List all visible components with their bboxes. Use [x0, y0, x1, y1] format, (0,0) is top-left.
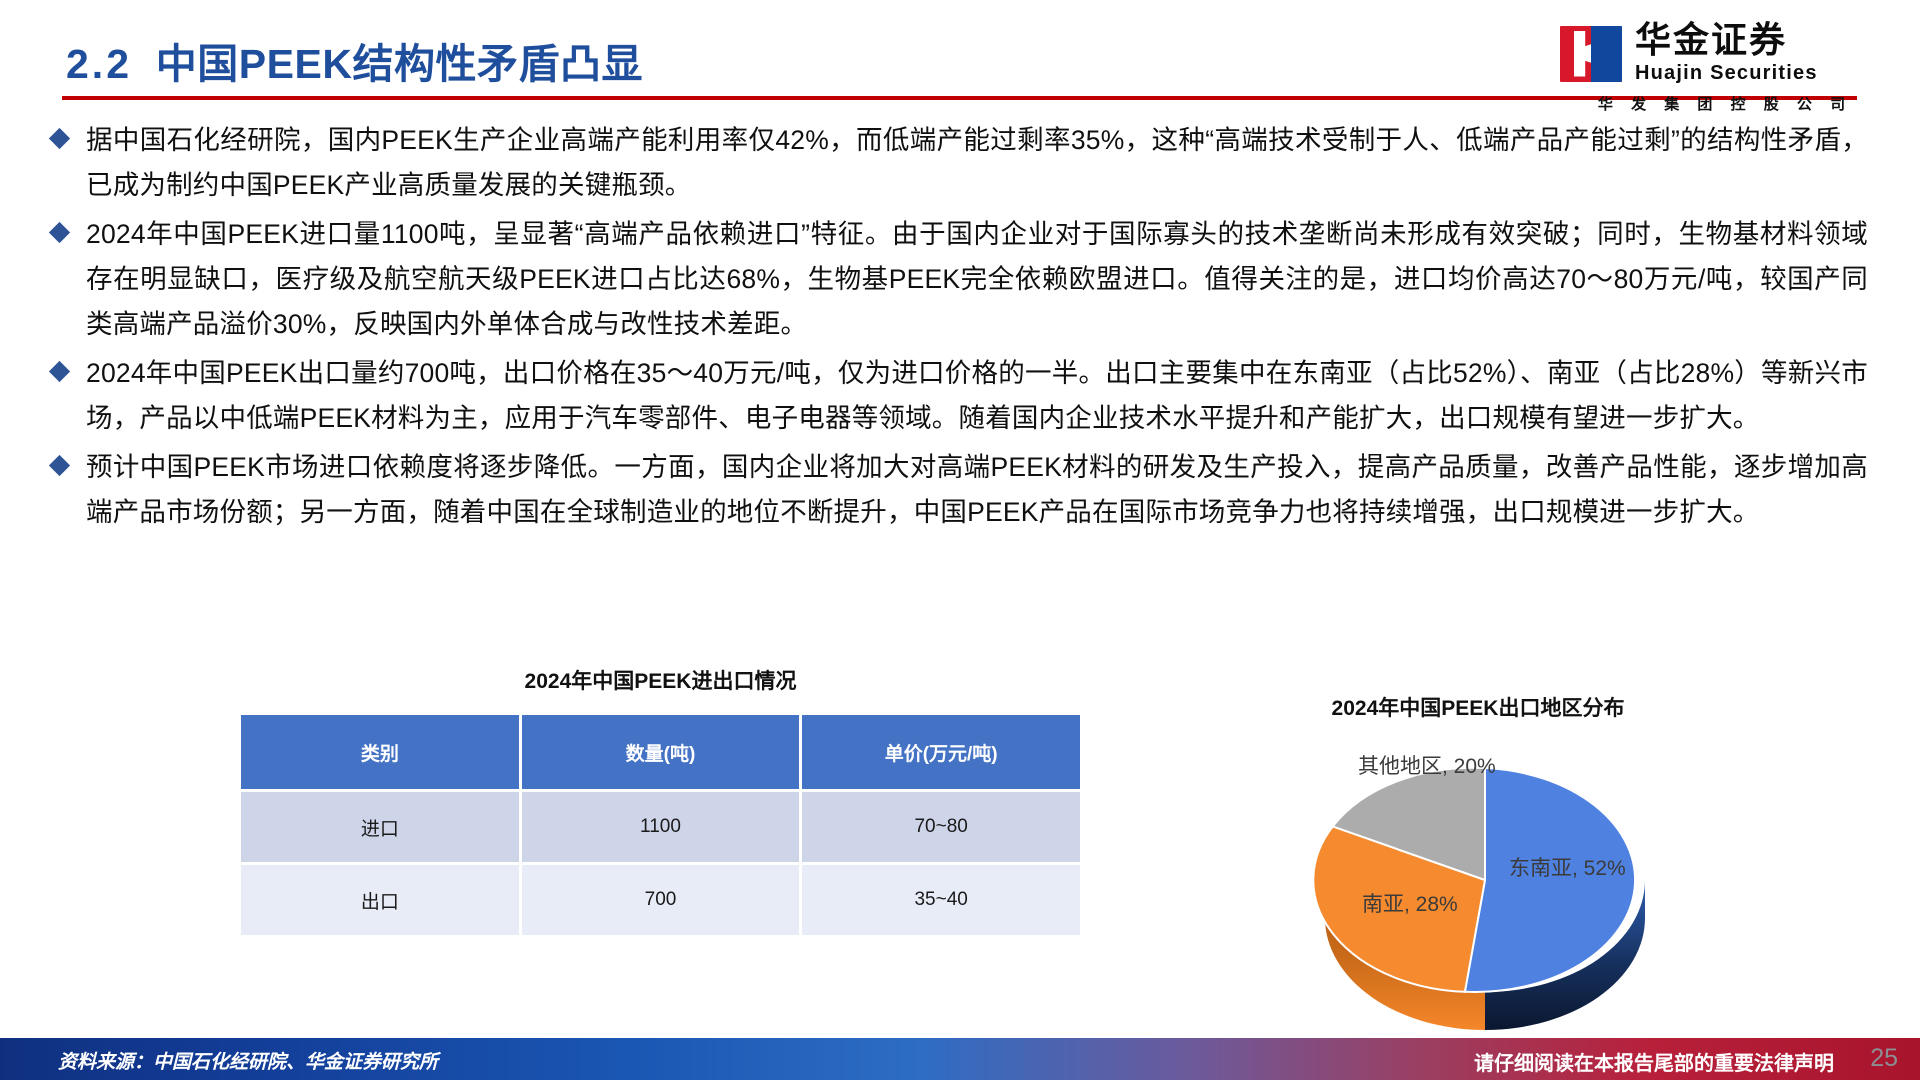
page-title-text: 中国PEEK结构性矛盾凸显: [156, 41, 643, 87]
company-logo: 华金证券 Huajin Securities 华 发 集 团 控 股 公 司: [1560, 22, 1890, 114]
table-col-header-category: 类别: [241, 715, 519, 789]
table-row: 出口 700 35~40: [241, 865, 1080, 935]
table-cell-quantity: 1100: [522, 792, 800, 862]
bullet-text-1: 据中国石化经研院，国内PEEK生产企业高端产能利用率仅42%，而低端产能过剩率3…: [86, 118, 1868, 208]
bullet-text-3: 2024年中国PEEK出口量约700吨，出口价格在35～40万元/吨，仅为进口价…: [86, 351, 1868, 441]
table-col-header-quantity: 数量(吨): [522, 715, 800, 789]
diamond-bullet-icon: [49, 455, 70, 476]
table-col-header-unitprice: 单价(万元/吨): [802, 715, 1080, 789]
page-number: 25: [1870, 1044, 1898, 1073]
body-content: 据中国石化经研院，国内PEEK生产企业高端产能利用率仅42%，而低端产能过剩率3…: [48, 118, 1868, 539]
bullet-item-1: 据中国石化经研院，国内PEEK生产企业高端产能利用率仅42%，而低端产能过剩率3…: [48, 118, 1868, 208]
bullet-text-2: 2024年中国PEEK进口量1100吨，呈显著“高端产品依赖进口”特征。由于国内…: [86, 212, 1868, 347]
pie-label-south-asia: 南亚, 28%: [1362, 888, 1458, 918]
page-title-number: 2.2: [66, 41, 132, 87]
bullet-text-4: 预计中国PEEK市场进口依赖度将逐步降低。一方面，国内企业将加大对高端PEEK材…: [86, 445, 1868, 535]
table-cell-quantity: 700: [522, 865, 800, 935]
footer-bar: 资料来源：中国石化经研院、华金证券研究所 请仔细阅读在本报告尾部的重要法律声明 …: [0, 1038, 1920, 1080]
diamond-bullet-icon: [49, 361, 70, 382]
logo-english-name: Huajin Securities: [1635, 62, 1818, 85]
diamond-bullet-icon: [49, 128, 70, 149]
table-cell-unitprice: 70~80: [802, 792, 1080, 862]
diamond-bullet-icon: [49, 222, 70, 243]
logo-subtitle: 华 发 集 团 控 股 公 司: [1560, 93, 1890, 114]
footer-source: 资料来源：中国石化经研院、华金证券研究所: [58, 1047, 438, 1074]
bullet-item-4: 预计中国PEEK市场进口依赖度将逐步降低。一方面，国内企业将加大对高端PEEK材…: [48, 445, 1868, 535]
table-cell-category: 出口: [241, 865, 519, 935]
page-title: 2.2 中国PEEK结构性矛盾凸显: [66, 30, 643, 90]
table-cell-unitprice: 35~40: [802, 865, 1080, 935]
footer-notice: 请仔细阅读在本报告尾部的重要法律声明: [1474, 1047, 1834, 1076]
bullet-item-3: 2024年中国PEEK出口量约700吨，出口价格在35～40万元/吨，仅为进口价…: [48, 351, 1868, 441]
table-cell-category: 进口: [241, 792, 519, 862]
import-export-table: 类别 数量(吨) 单价(万元/吨) 进口 1100 70~80 出口 700 3…: [238, 712, 1083, 938]
table-title: 2024年中国PEEK进出口情况: [238, 665, 1083, 695]
export-region-pie-chart: 东南亚, 52% 南亚, 28% 其他地区, 20%: [1250, 730, 1720, 1030]
table-row: 进口 1100 70~80: [241, 792, 1080, 862]
bullet-item-2: 2024年中国PEEK进口量1100吨，呈显著“高端产品依赖进口”特征。由于国内…: [48, 212, 1868, 347]
pie-label-other-regions: 其他地区, 20%: [1358, 750, 1496, 780]
pie-label-southeast-asia: 东南亚, 52%: [1509, 852, 1626, 882]
logo-chinese-name: 华金证券: [1635, 22, 1818, 58]
table-header-row: 类别 数量(吨) 单价(万元/吨): [241, 715, 1080, 789]
chart-title: 2024年中国PEEK出口地区分布: [1258, 692, 1698, 722]
huajin-logo-mark-icon: [1560, 26, 1622, 82]
slide-canvas: 2.2 中国PEEK结构性矛盾凸显 华金证券 Huajin Securities…: [0, 0, 1920, 1080]
